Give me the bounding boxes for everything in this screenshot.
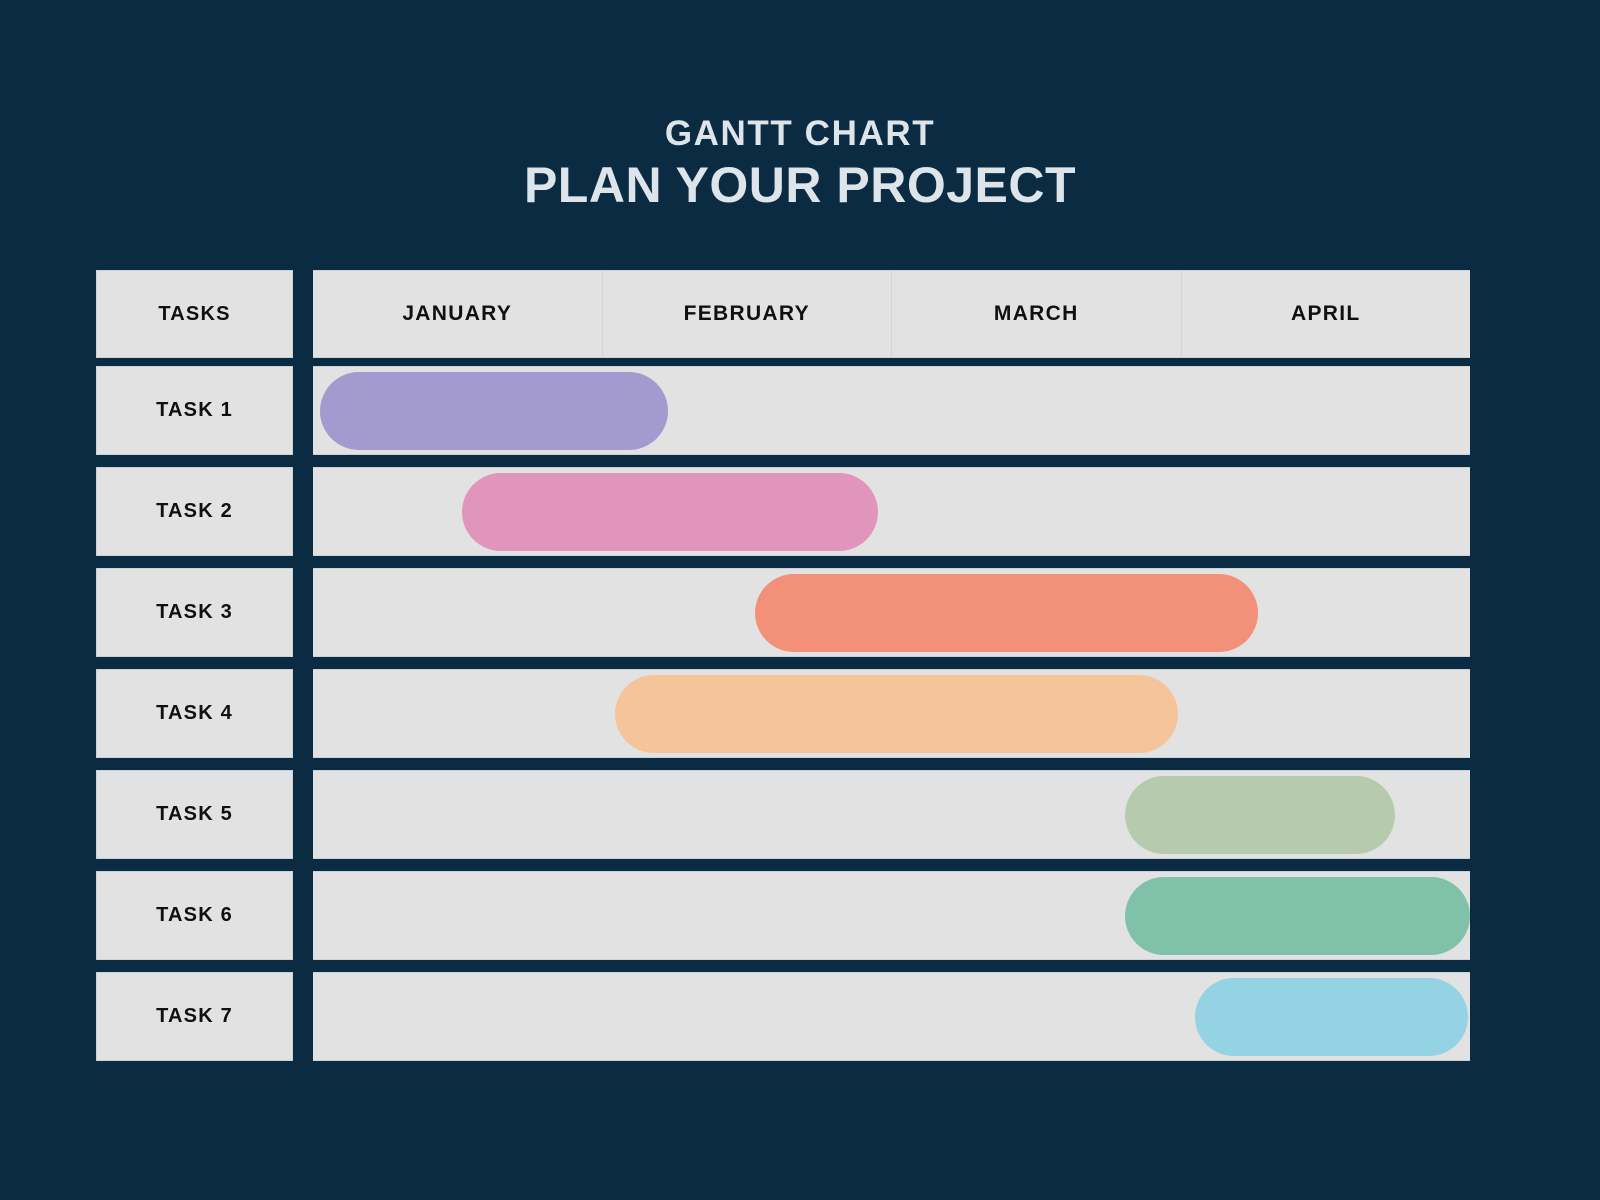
month-header-april[interactable]: APRIL <box>1182 271 1471 357</box>
task-label-cell[interactable]: TASK 2 <box>96 467 293 556</box>
task-label: TASK 4 <box>156 702 233 725</box>
task-label: TASK 7 <box>156 1005 233 1028</box>
task-label: TASK 3 <box>156 601 233 624</box>
month-header-label: MARCH <box>994 302 1079 326</box>
gantt-bar[interactable] <box>1125 776 1395 854</box>
gantt-bar[interactable] <box>615 675 1178 753</box>
tasks-header-cell: TASKS <box>96 270 293 358</box>
month-header-label: FEBRUARY <box>684 302 810 326</box>
task-label: TASK 1 <box>156 399 233 422</box>
month-header-track: JANUARYFEBRUARYMARCHAPRIL <box>313 270 1470 358</box>
month-header-february[interactable]: FEBRUARY <box>603 271 893 357</box>
month-header-label: JANUARY <box>402 302 512 326</box>
task-label-cell[interactable]: TASK 1 <box>96 366 293 455</box>
gantt-bar[interactable] <box>1195 978 1468 1056</box>
task-label-cell[interactable]: TASK 4 <box>96 669 293 758</box>
gantt-bar[interactable] <box>320 372 668 450</box>
gantt-bar[interactable] <box>755 574 1258 652</box>
task-label: TASK 2 <box>156 500 233 523</box>
month-header-march[interactable]: MARCH <box>892 271 1182 357</box>
task-label-cell[interactable]: TASK 6 <box>96 871 293 960</box>
task-label-cell[interactable]: TASK 3 <box>96 568 293 657</box>
month-header-label: APRIL <box>1291 302 1361 326</box>
gantt-bar[interactable] <box>462 473 878 551</box>
gantt-grid: TASKSJANUARYFEBRUARYMARCHAPRILTASK 1TASK… <box>0 0 1600 1200</box>
task-label: TASK 5 <box>156 803 233 826</box>
gantt-bar[interactable] <box>1125 877 1470 955</box>
task-label-cell[interactable]: TASK 7 <box>96 972 293 1061</box>
task-label: TASK 6 <box>156 904 233 927</box>
tasks-header-label: TASKS <box>158 303 230 326</box>
task-label-cell[interactable]: TASK 5 <box>96 770 293 859</box>
month-header-january[interactable]: JANUARY <box>313 271 603 357</box>
gantt-chart-page: GANTT CHART PLAN YOUR PROJECT TASKSJANUA… <box>0 0 1600 1200</box>
